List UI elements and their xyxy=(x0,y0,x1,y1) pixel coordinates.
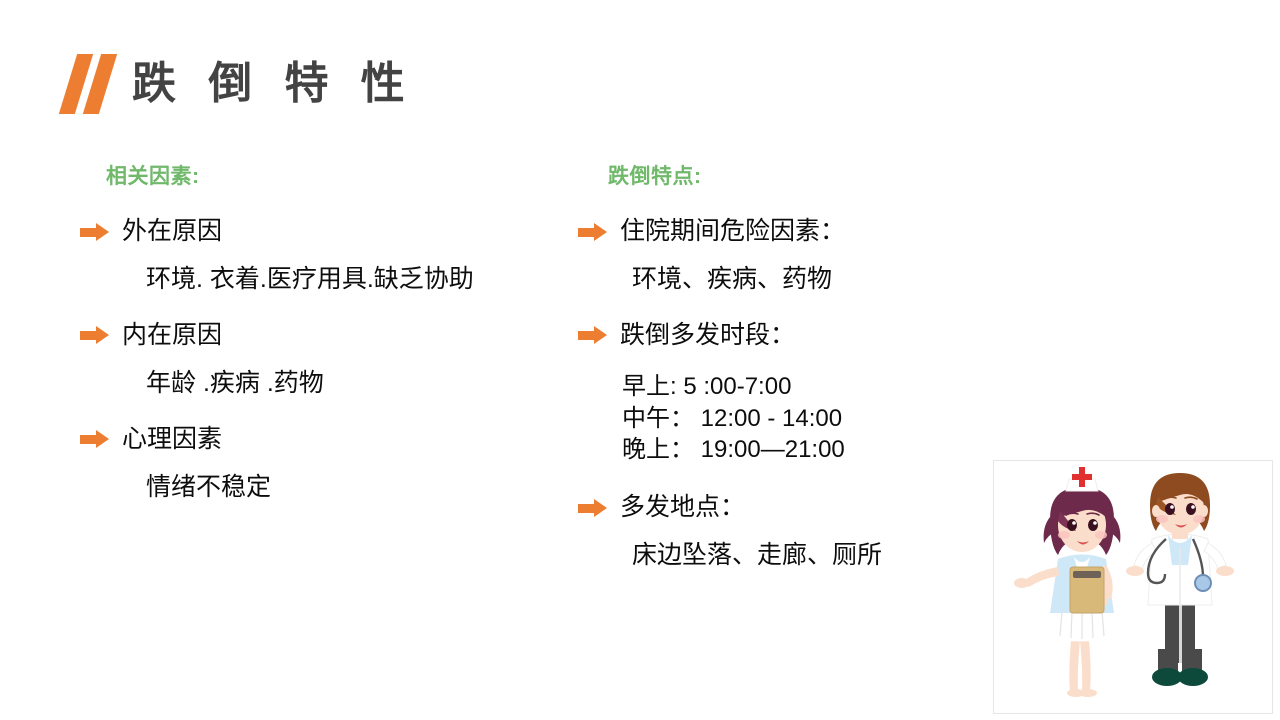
bullet-row: 多发地点： xyxy=(578,492,998,523)
left-content-column: 相关因素: 外在原因 环境. 衣着.医疗用具.缺乏协助 内在原因 年龄 .疾病 … xyxy=(80,160,560,527)
page-title: 跌 倒 特 性 xyxy=(62,48,415,120)
arrow-right-icon xyxy=(578,499,608,517)
arrow-right-icon xyxy=(578,223,608,241)
bullet-row: 住院期间危险因素： xyxy=(578,216,998,247)
arrow-right-icon xyxy=(80,326,110,344)
doctor-figure xyxy=(1126,473,1234,686)
arrow-right-icon xyxy=(80,430,110,448)
bullet-row: 跌倒多发时段： xyxy=(578,320,998,351)
right-section-heading: 跌倒特点: xyxy=(608,160,998,190)
page-title-text: 跌 倒 特 性 xyxy=(132,62,415,106)
bullet-label: 外在原因 xyxy=(122,216,222,247)
nurse-and-doctor-graphic xyxy=(994,461,1272,713)
time-range-noon: 中午： 12:00 - 14:00 xyxy=(622,403,998,435)
bullet-detail: 情绪不稳定 xyxy=(146,471,560,504)
list-item: 外在原因 环境. 衣着.医疗用具.缺乏协助 xyxy=(80,216,560,296)
list-item: 住院期间危险因素： 环境、疾病、药物 xyxy=(578,216,998,296)
list-item: 多发地点： 床边坠落、走廊、厕所 xyxy=(578,492,998,572)
arrow-right-icon xyxy=(578,326,608,344)
nurse-and-doctor-illustration xyxy=(993,460,1273,714)
list-item: 内在原因 年龄 .疾病 .药物 xyxy=(80,320,560,400)
bullet-detail: 床边坠落、走廊、厕所 xyxy=(632,539,998,572)
bullet-label: 内在原因 xyxy=(122,320,222,351)
bullet-row: 心理因素 xyxy=(80,424,560,455)
time-range-list: 早上: 5 :00-7:00 中午： 12:00 - 14:00 晚上： 19:… xyxy=(622,371,998,466)
double-slash-icon xyxy=(62,54,118,114)
bullet-detail: 环境、疾病、药物 xyxy=(632,263,998,296)
bullet-detail: 环境. 衣着.医疗用具.缺乏协助 xyxy=(146,263,560,296)
bullet-label: 跌倒多发时段： xyxy=(620,320,795,351)
bullet-label: 多发地点： xyxy=(620,492,745,523)
time-range-morning: 早上: 5 :00-7:00 xyxy=(622,371,998,403)
list-item: 心理因素 情绪不稳定 xyxy=(80,424,560,504)
right-content-column: 跌倒特点: 住院期间危险因素： 环境、疾病、药物 跌倒多发时段： 早上: 5 :… xyxy=(578,160,998,596)
left-section-heading: 相关因素: xyxy=(106,160,560,190)
nurse-figure xyxy=(1014,467,1120,697)
bullet-row: 内在原因 xyxy=(80,320,560,351)
time-range-evening: 晚上： 19:00—21:00 xyxy=(622,434,998,466)
bullet-detail: 年龄 .疾病 .药物 xyxy=(146,367,560,400)
list-item: 跌倒多发时段： 早上: 5 :00-7:00 中午： 12:00 - 14:00… xyxy=(578,320,998,466)
arrow-right-icon xyxy=(80,223,110,241)
bullet-label: 住院期间危险因素： xyxy=(620,216,845,247)
bullet-row: 外在原因 xyxy=(80,216,560,247)
bullet-label: 心理因素 xyxy=(122,424,222,455)
